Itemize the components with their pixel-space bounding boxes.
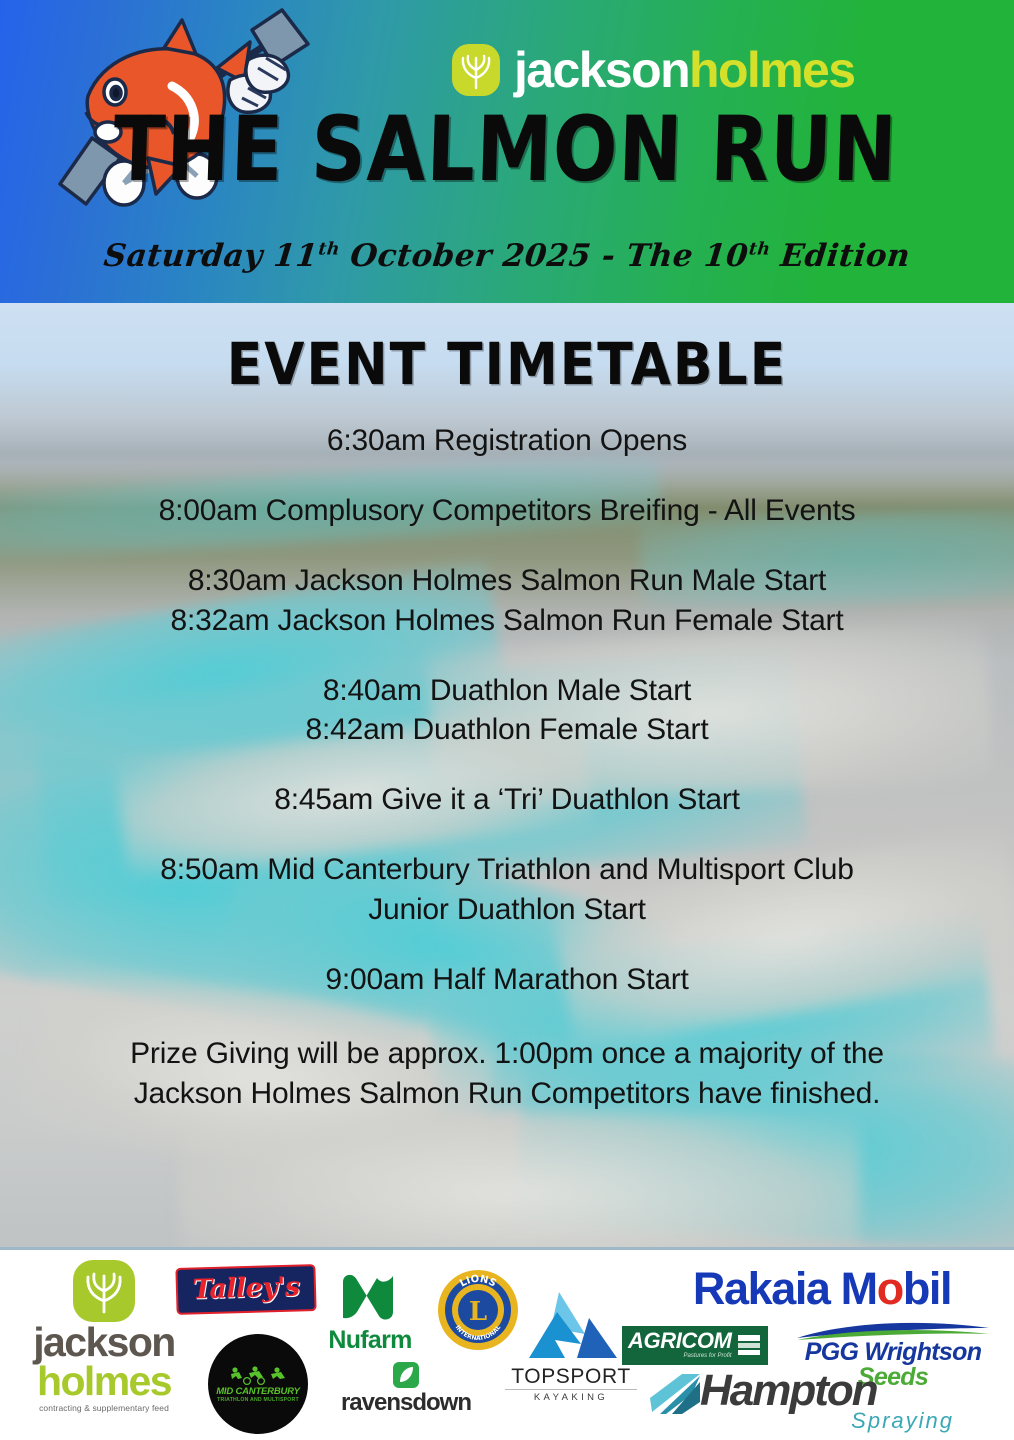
sponsor-topsport-subtitle: KAYAKING	[505, 1389, 637, 1403]
schedule-line: 8:45am Give it a ‘Tri’ Duathlon Start	[0, 780, 1014, 820]
schedule-line: 9:00am Half Marathon Start	[0, 960, 1014, 1000]
logo-word-jackson: jackson	[514, 42, 689, 98]
schedule-line: 6:30am Registration Opens	[0, 421, 1014, 461]
date-prefix: Saturday 11	[102, 238, 320, 274]
date-suffix: Edition	[768, 238, 912, 274]
schedule-group: 8:50am Mid Canterbury Triathlon and Mult…	[0, 850, 1014, 930]
jackson-holmes-logo: jacksonholmes	[452, 44, 854, 96]
nufarm-n-icon	[337, 1272, 403, 1320]
sponsor-topsport: TOPSPORT KAYAKING	[505, 1288, 637, 1403]
schedule-line: 8:00am Complusory Competitors Breifing -…	[0, 491, 1014, 531]
leaf-icon	[393, 1362, 419, 1388]
hampton-spray-icon	[648, 1372, 704, 1416]
event-title: THE SALMON RUN	[0, 96, 1014, 201]
prize-giving-note: Prize Giving will be approx. 1:00pm once…	[0, 1034, 1014, 1114]
sponsor-mid-canterbury: MID CANTERBURY TRIATHLON AND MULTISPORT	[202, 1334, 314, 1434]
schedule-group: 9:00am Half Marathon Start	[0, 960, 1014, 1000]
date-ordinal-one: th	[317, 240, 341, 260]
schedule-line: 8:30am Jackson Holmes Salmon Run Male St…	[0, 561, 1014, 601]
poster-body: EVENT TIMETABLE 6:30am Registration Open…	[0, 303, 1014, 1247]
schedule-group: 6:30am Registration Opens	[0, 421, 1014, 461]
date-ordinal-two: th	[748, 240, 772, 260]
schedule-group: 8:00am Complusory Competitors Breifing -…	[0, 491, 1014, 531]
sponsor-nufarm: Nufarm	[320, 1272, 420, 1355]
sponsor-word-holmes: holmes	[14, 1362, 194, 1401]
event-date: Saturday 11th October 2025 - The 10th Ed…	[0, 238, 1014, 274]
sponsor-mid-canterbury-subtitle: TRIATHLON AND MULTISPORT	[217, 1397, 299, 1403]
schedule-group: 8:30am Jackson Holmes Salmon Run Male St…	[0, 561, 1014, 641]
agricom-field-icon	[736, 1332, 762, 1358]
sponsor-rakaia-accent-letter: o	[877, 1263, 903, 1314]
schedule-list: 6:30am Registration Opens 8:00am Complus…	[0, 421, 1014, 1114]
schedule-line: Prize Giving will be approx. 1:00pm once…	[0, 1034, 1014, 1074]
sponsor-rakaia-part-one: Rakaia M	[693, 1263, 877, 1314]
triathlon-figures-icon	[227, 1365, 289, 1385]
sponsor-agricom-label: AGRICOM	[628, 1330, 732, 1352]
logo-word-holmes: holmes	[689, 42, 854, 98]
sponsor-pgg-label: PGG Wrightson	[805, 1338, 982, 1366]
schedule-line: 8:40am Duathlon Male Start	[0, 671, 1014, 711]
sponsor-jackson-holmes: jackson holmes contracting & supplementa…	[14, 1260, 194, 1413]
sponsor-talleys-label: Talley's	[178, 1271, 315, 1306]
sponsor-agricom-tagline: Pastures for Profit	[628, 1353, 732, 1359]
sponsor-agricom: AGRICOM Pastures for Profit	[622, 1326, 768, 1365]
schedule-group: 8:40am Duathlon Male Start 8:42am Duathl…	[0, 671, 1014, 751]
schedule-line: 8:42am Duathlon Female Start	[0, 710, 1014, 750]
schedule-line: 8:32am Jackson Holmes Salmon Run Female …	[0, 601, 1014, 641]
schedule-line: 8:50am Mid Canterbury Triathlon and Mult…	[0, 850, 1014, 890]
grass-leaf-icon	[73, 1260, 135, 1322]
timetable-heading: EVENT TIMETABLE	[0, 331, 1014, 398]
sponsor-topsport-label: TOPSPORT	[505, 1366, 637, 1387]
sponsor-talleys: Talley's	[176, 1266, 316, 1313]
sponsor-word-jackson: jackson	[14, 1324, 194, 1362]
sponsor-hampton-spraying: Hampton Spraying	[648, 1372, 980, 1434]
sponsor-nufarm-label: Nufarm	[320, 1326, 420, 1355]
schedule-line: Jackson Holmes Salmon Run Competitors ha…	[0, 1074, 1014, 1114]
sponsor-ravensdown-label: ravensdown	[322, 1389, 490, 1417]
svg-text:L: L	[469, 1297, 487, 1327]
sponsor-rakaia-part-two: bil	[903, 1263, 951, 1314]
event-poster: jacksonholmes THE SALMON RUN Saturday 11…	[0, 0, 1014, 1440]
sponsor-tagline: contracting & supplementary feed	[14, 1403, 194, 1413]
schedule-group: 8:45am Give it a ‘Tri’ Duathlon Start	[0, 780, 1014, 820]
schedule-line: Junior Duathlon Start	[0, 890, 1014, 930]
sponsor-ravensdown: ravensdown	[322, 1362, 490, 1417]
sponsor-hampton-label: Hampton	[700, 1372, 877, 1411]
date-middle: October 2025 - The 10	[337, 238, 750, 274]
sponsor-mid-canterbury-label: MID CANTERBURY	[216, 1386, 300, 1397]
topsport-triangle-icon	[521, 1288, 621, 1366]
poster-header: jacksonholmes THE SALMON RUN Saturday 11…	[0, 0, 1014, 303]
sponsor-rakaia-mobil: Rakaia Mobil	[644, 1266, 1000, 1311]
sponsor-strip: jackson holmes contracting & supplementa…	[0, 1247, 1014, 1440]
timetable-content: EVENT TIMETABLE 6:30am Registration Open…	[0, 303, 1014, 1247]
grass-leaf-icon	[452, 44, 500, 96]
